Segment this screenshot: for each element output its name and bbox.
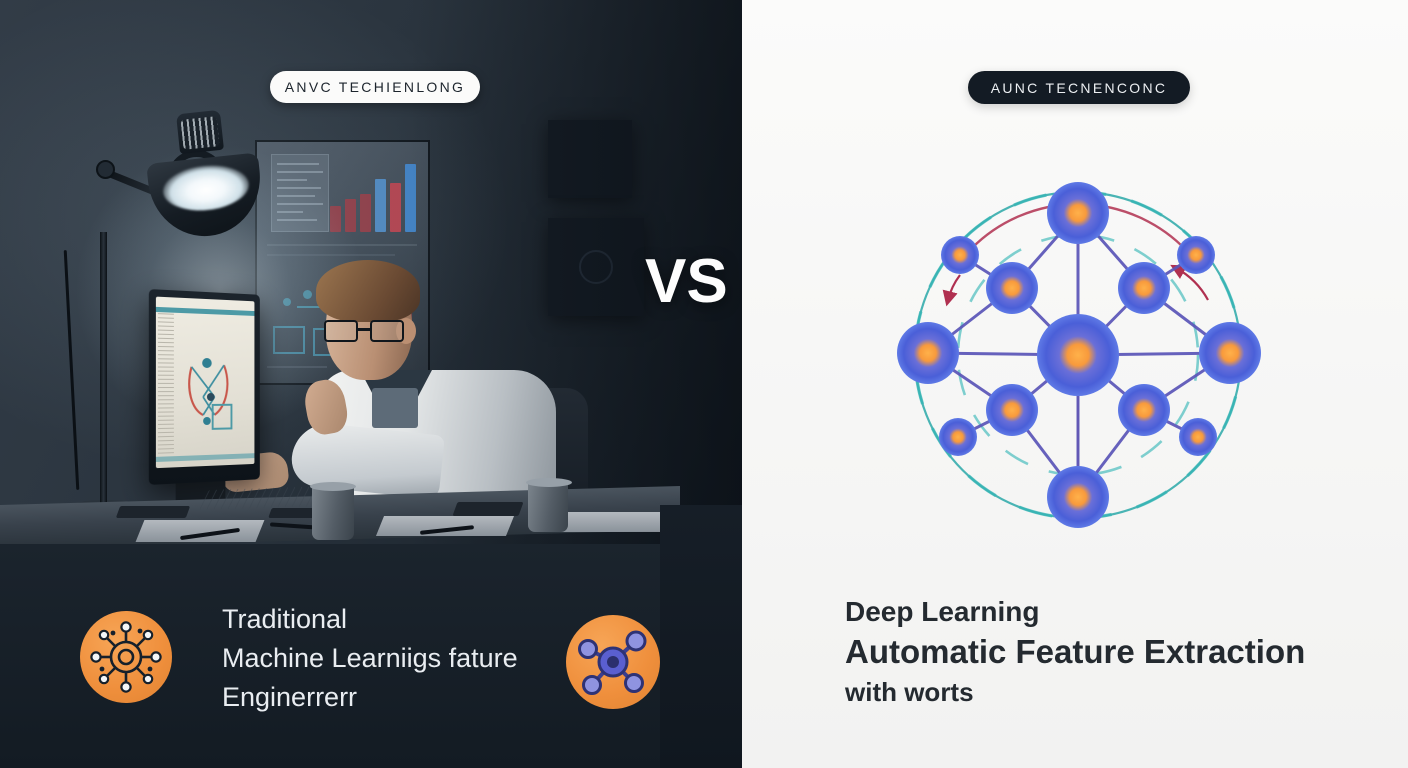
screen-network-diagram-icon (182, 348, 241, 435)
right-caption-line2: Automatic Feature Extraction (845, 632, 1305, 672)
gear-network-glyph (80, 611, 172, 703)
eyeglasses-icon (324, 320, 408, 342)
left-caption: Traditional Machine Learniigs fature Eng… (222, 600, 518, 717)
node-center (1037, 314, 1119, 396)
left-panel-traditional-ml: ANVC TECHIENLONG (0, 0, 742, 768)
node-corner-bl (939, 418, 977, 456)
left-badge-label: ANVC TECHIENLONG (285, 79, 465, 95)
molecule-network-icon (566, 615, 660, 709)
left-caption-line1: Traditional (222, 600, 518, 639)
node-corner-br (1179, 418, 1217, 456)
node-top (1047, 182, 1109, 244)
right-badge-label: AUNC TECNENCONC (991, 80, 1168, 96)
right-panel-deep-learning: AUNC TECNENCONC Deep Learning Automatic … (742, 0, 1408, 768)
left-caption-line3: Enginerrerr (222, 678, 518, 717)
node-left (897, 322, 959, 384)
computer-monitor (149, 289, 260, 485)
lamp-joint (96, 160, 115, 179)
lamp-vent-fins (181, 116, 220, 150)
node-mid-tr (1118, 262, 1170, 314)
monitor-screen (156, 297, 255, 469)
coffee-cup-1 (312, 486, 354, 540)
lamp-pole (100, 232, 107, 532)
node-bottom (1047, 466, 1109, 528)
node-corner-tr (1177, 236, 1215, 274)
desk-side-shadow (660, 505, 742, 768)
right-caption-line1: Deep Learning (845, 592, 1305, 632)
right-brand-badge[interactable]: AUNC TECNENCONC (968, 71, 1190, 104)
desk-object-1 (116, 506, 190, 518)
desk-paper-1 (136, 520, 265, 542)
screen-text-rows (158, 313, 174, 454)
hair (316, 260, 420, 322)
node-mid-bl (986, 384, 1038, 436)
right-caption: Deep Learning Automatic Feature Extracti… (845, 592, 1305, 712)
crimson-arrow-left (948, 275, 960, 300)
graph-nodes (897, 182, 1261, 528)
node-corner-tl (941, 236, 979, 274)
desk-paper-2 (376, 516, 514, 536)
node-mid-tl (986, 262, 1038, 314)
molecule-glyph (566, 615, 660, 709)
vs-label: VS (645, 246, 728, 317)
node-right (1199, 322, 1261, 384)
left-caption-line2: Machine Learniigs fature (222, 639, 518, 678)
inner-shirt (372, 388, 418, 428)
gear-network-icon (80, 611, 172, 703)
node-mid-br (1118, 384, 1170, 436)
coffee-cup-2 (528, 482, 568, 532)
right-caption-line3: with worts (845, 672, 1305, 712)
left-brand-badge[interactable]: ANVC TECHIENLONG (270, 71, 480, 103)
comparison-infographic: ANVC TECHIENLONG (0, 0, 1408, 768)
desk-phone (452, 502, 523, 516)
